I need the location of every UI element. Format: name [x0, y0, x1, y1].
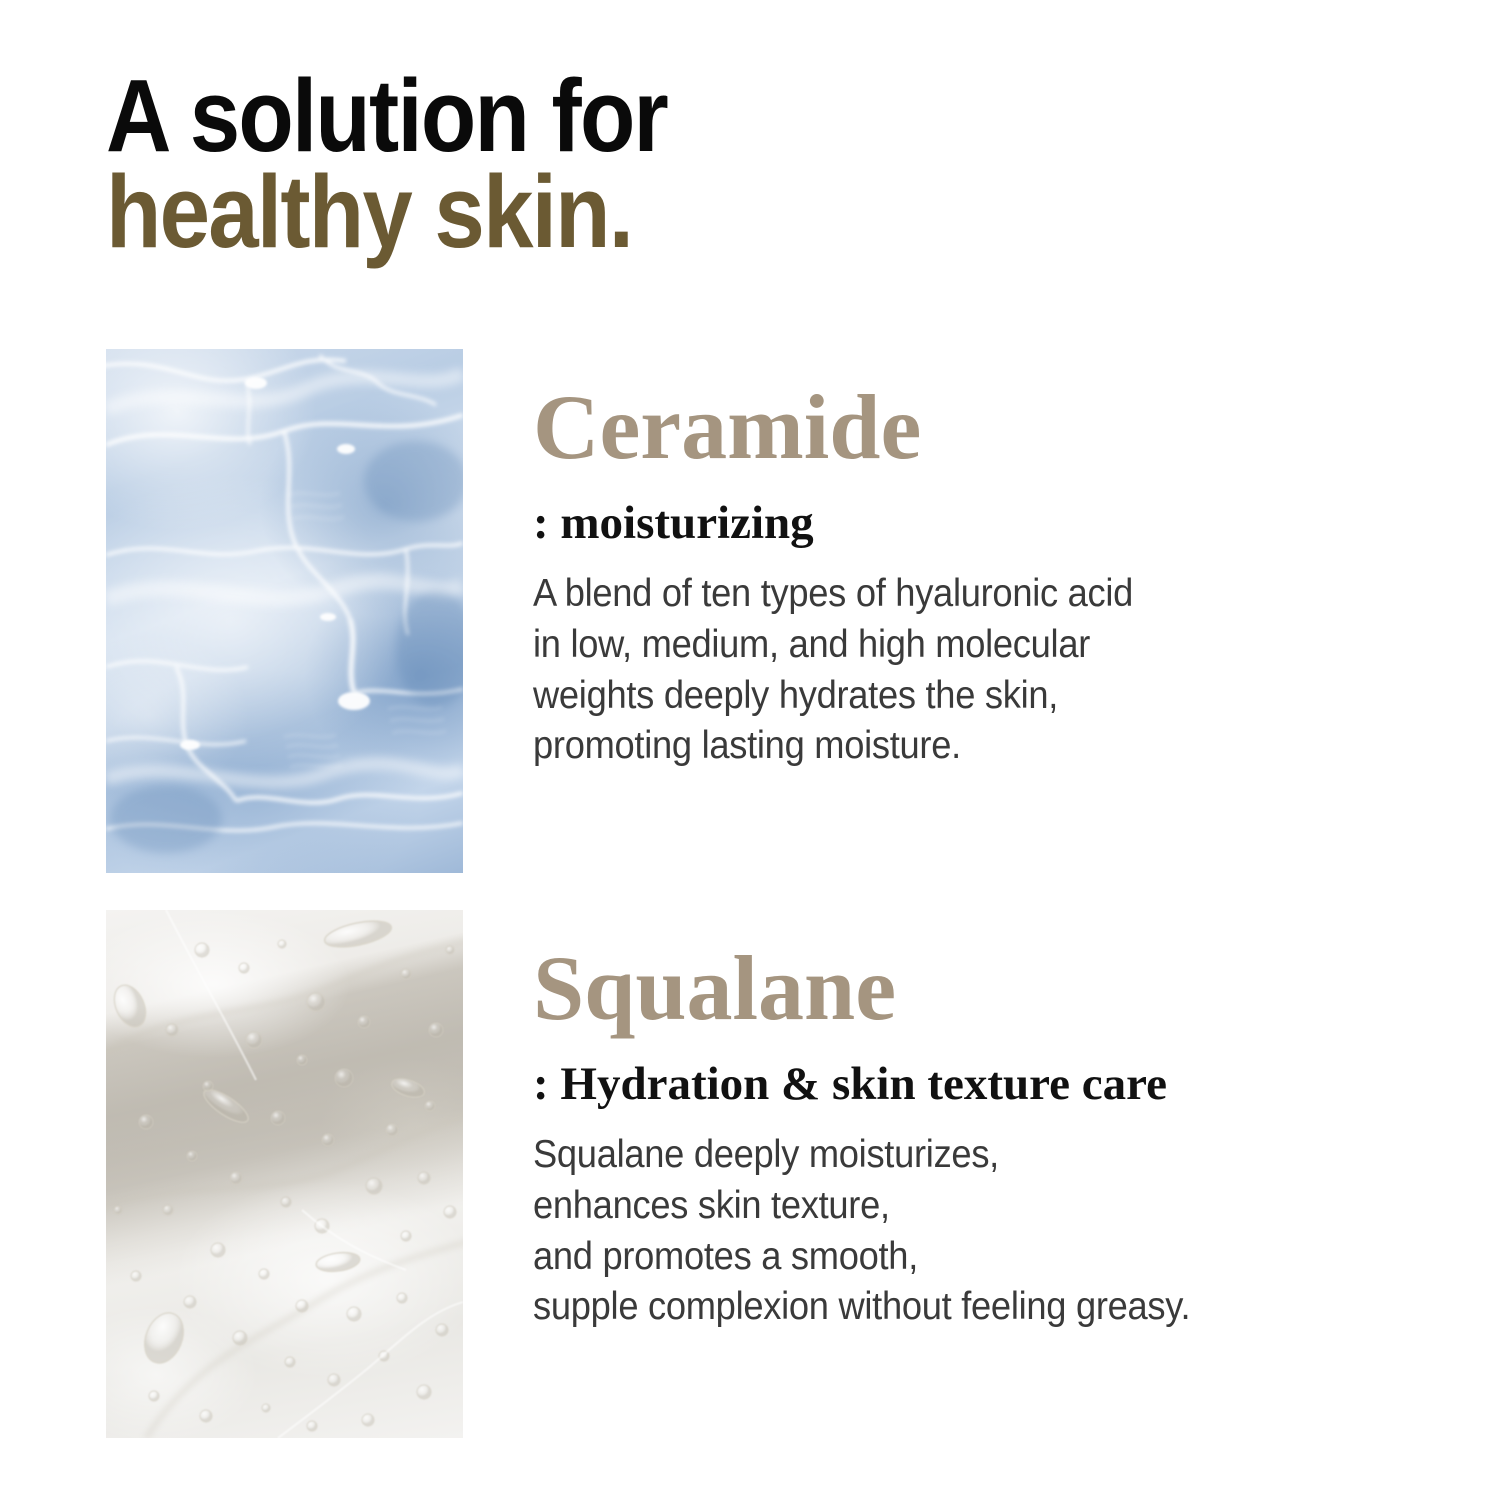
water-caustics-icon: [106, 349, 463, 873]
page-title: A solution for healthy skin.: [106, 68, 1306, 260]
description-line: supple complexion without feeling greasy…: [533, 1282, 1398, 1333]
ingredient-name: Squalane: [533, 942, 1463, 1034]
headline-line-1: A solution for: [106, 68, 1162, 164]
ingredient-section-ceramide: Ceramide : moisturizing A blend of ten t…: [0, 349, 1500, 873]
description-line: weights deeply hydrates the skin,: [533, 671, 1398, 722]
ingredient-text-squalane: Squalane : Hydration & skin texture care…: [533, 942, 1463, 1333]
description-line: and promotes a smooth,: [533, 1232, 1398, 1283]
description-line: in low, medium, and high molecular: [533, 620, 1398, 671]
description-line: A blend of ten types of hyaluronic acid: [533, 569, 1398, 620]
ingredient-benefit: : moisturizing: [533, 495, 1463, 551]
ingredient-name: Ceramide: [533, 381, 1463, 473]
ingredient-benefit: : Hydration & skin texture care: [533, 1056, 1463, 1112]
description-line: enhances skin texture,: [533, 1181, 1398, 1232]
ingredient-description: Squalane deeply moisturizes, enhances sk…: [533, 1130, 1398, 1333]
ingredient-text-ceramide: Ceramide : moisturizing A blend of ten t…: [533, 381, 1463, 772]
ingredient-description: A blend of ten types of hyaluronic acid …: [533, 569, 1398, 772]
ingredient-image-ceramide: [106, 349, 463, 873]
description-line: promoting lasting moisture.: [533, 721, 1398, 772]
headline-line-2: healthy skin.: [106, 164, 1162, 260]
description-line: Squalane deeply moisturizes,: [533, 1130, 1398, 1181]
ingredient-section-squalane: Squalane : Hydration & skin texture care…: [0, 910, 1500, 1438]
gel-bubbles-icon: [106, 910, 463, 1438]
ingredient-image-squalane: [106, 910, 463, 1438]
infographic-page: A solution for healthy skin.: [0, 0, 1500, 1500]
